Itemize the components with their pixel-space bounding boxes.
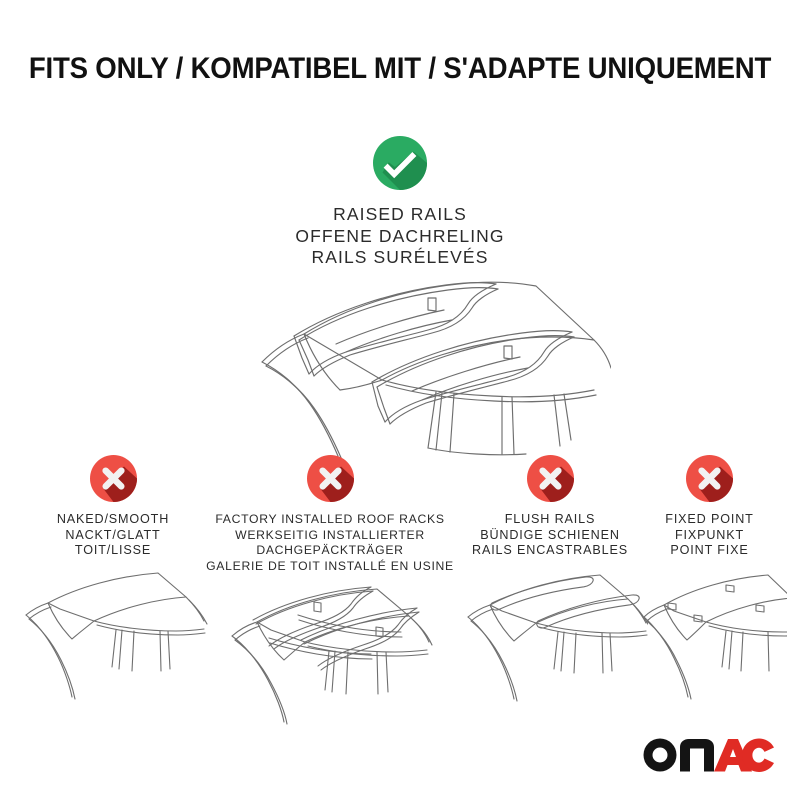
incompatible-label-line-4: GALERIE DE TOIT INSTALLÉ EN USINE bbox=[205, 559, 455, 575]
car-roof-factory-roof-racks-illustration bbox=[205, 580, 455, 730]
incompatible-label-line-3: TOIT/LISSE bbox=[8, 543, 218, 559]
incompatible-label-block: FLUSH RAILS BÜNDIGE SCHIENEN RAILS ENCAS… bbox=[452, 512, 648, 559]
incompatible-label-line-2: NACKT/GLATT bbox=[8, 528, 218, 544]
incompatible-label-line-1: NAKED/SMOOTH bbox=[8, 512, 218, 528]
compatible-label-line-3: RAILS SURÉLEVÉS bbox=[0, 247, 800, 269]
incompatible-item-naked-smooth: NAKED/SMOOTH NACKT/GLATT TOIT/LISSE bbox=[8, 455, 218, 715]
incompatible-label-line-1: FACTORY INSTALLED ROOF RACKS bbox=[205, 512, 455, 528]
compatible-label-line-1: RAISED RAILS bbox=[0, 204, 800, 226]
incompatible-label-line-2: FIXPUNKT bbox=[632, 528, 787, 544]
incompatible-label-block: NAKED/SMOOTH NACKT/GLATT TOIT/LISSE bbox=[8, 512, 218, 559]
compatible-label-line-2: OFFENE DACHRELING bbox=[0, 226, 800, 248]
incompatible-section: NAKED/SMOOTH NACKT/GLATT TOIT/LISSE bbox=[0, 455, 800, 745]
incompatible-label-line-3: RAILS ENCASTRABLES bbox=[452, 543, 648, 559]
omac-logo bbox=[642, 734, 774, 774]
infographic-page: FITS ONLY / KOMPATIBEL MIT / S'ADAPTE UN… bbox=[0, 0, 800, 800]
compatible-section: RAISED RAILS OFFENE DACHRELING RAILS SUR… bbox=[0, 136, 800, 269]
car-roof-fixed-point-illustration bbox=[632, 565, 787, 715]
incompatible-item-factory-roof-racks: FACTORY INSTALLED ROOF RACKS WERKSEITIG … bbox=[205, 455, 455, 730]
logo-letter-o bbox=[644, 739, 677, 772]
logo-letter-m bbox=[680, 739, 714, 772]
incompatible-item-fixed-point: FIXED POINT FIXPUNKT POINT FIXE bbox=[632, 455, 787, 715]
x-circle-icon bbox=[686, 455, 733, 502]
compatible-label-block: RAISED RAILS OFFENE DACHRELING RAILS SUR… bbox=[0, 204, 800, 269]
incompatible-label-line-3: POINT FIXE bbox=[632, 543, 787, 559]
car-roof-raised-rails-illustration bbox=[196, 278, 611, 458]
check-circle-icon bbox=[373, 136, 427, 190]
incompatible-label-block: FACTORY INSTALLED ROOF RACKS WERKSEITIG … bbox=[205, 512, 455, 574]
incompatible-label-line-1: FIXED POINT bbox=[632, 512, 787, 528]
page-title: FITS ONLY / KOMPATIBEL MIT / S'ADAPTE UN… bbox=[26, 52, 774, 86]
x-circle-icon bbox=[90, 455, 137, 502]
car-roof-naked-smooth-illustration bbox=[8, 565, 218, 715]
x-circle-icon bbox=[307, 455, 354, 502]
incompatible-item-flush-rails: FLUSH RAILS BÜNDIGE SCHIENEN RAILS ENCAS… bbox=[452, 455, 648, 715]
incompatible-label-line-2: WERKSEITIG INSTALLIERTER bbox=[205, 528, 455, 544]
incompatible-label-line-1: FLUSH RAILS bbox=[452, 512, 648, 528]
car-roof-flush-rails-illustration bbox=[452, 565, 648, 715]
incompatible-label-line-3: DACHGEPÄCKTRÄGER bbox=[205, 543, 455, 559]
incompatible-label-block: FIXED POINT FIXPUNKT POINT FIXE bbox=[632, 512, 787, 559]
x-circle-icon bbox=[527, 455, 574, 502]
incompatible-label-line-2: BÜNDIGE SCHIENEN bbox=[452, 528, 648, 544]
